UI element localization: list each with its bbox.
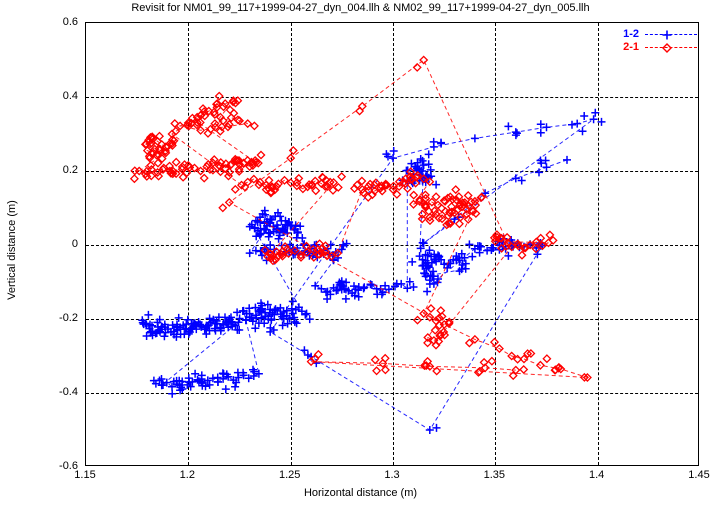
y-tick-label: -0.6 (30, 460, 78, 472)
y-tick-label: 0.2 (30, 164, 78, 176)
y-tick-label: 0 (30, 238, 78, 250)
y-tick-label: -0.2 (30, 312, 78, 324)
x-tick-label: 1.4 (589, 469, 604, 481)
x-axis-label: Horizontal distance (m) (0, 487, 721, 499)
y-axis-label: Vertical distance (m) (6, 160, 18, 340)
legend-item-2-1[interactable]: 2-1 (613, 41, 697, 54)
y-tick-label: 0.4 (30, 90, 78, 102)
legend-swatch-1-2 (645, 29, 697, 41)
chart-root: Revisit for NM01_99_117+1999-04-27_dyn_0… (0, 0, 721, 505)
series-2-1 (131, 56, 591, 381)
legend-label-2-1: 2-1 (613, 41, 645, 54)
legend-swatch-2-1 (645, 42, 697, 54)
page-title: Revisit for NM01_99_117+1999-04-27_dyn_0… (0, 2, 721, 14)
x-tick-label: 1.35 (484, 469, 505, 481)
plot-area (85, 22, 699, 466)
x-tick-label: 1.2 (180, 469, 195, 481)
legend-item-1-2[interactable]: 1-2 (613, 28, 697, 41)
legend-label-1-2: 1-2 (613, 28, 645, 41)
x-tick-label: 1.25 (279, 469, 300, 481)
series-1-2 (138, 109, 605, 434)
y-tick-label: 0.6 (30, 16, 78, 28)
data-points-layer (86, 23, 699, 466)
legend: 1-2 2-1 (613, 28, 697, 54)
y-tick-label: -0.4 (30, 386, 78, 398)
x-tick-label: 1.3 (384, 469, 399, 481)
x-tick-label: 1.45 (688, 469, 709, 481)
